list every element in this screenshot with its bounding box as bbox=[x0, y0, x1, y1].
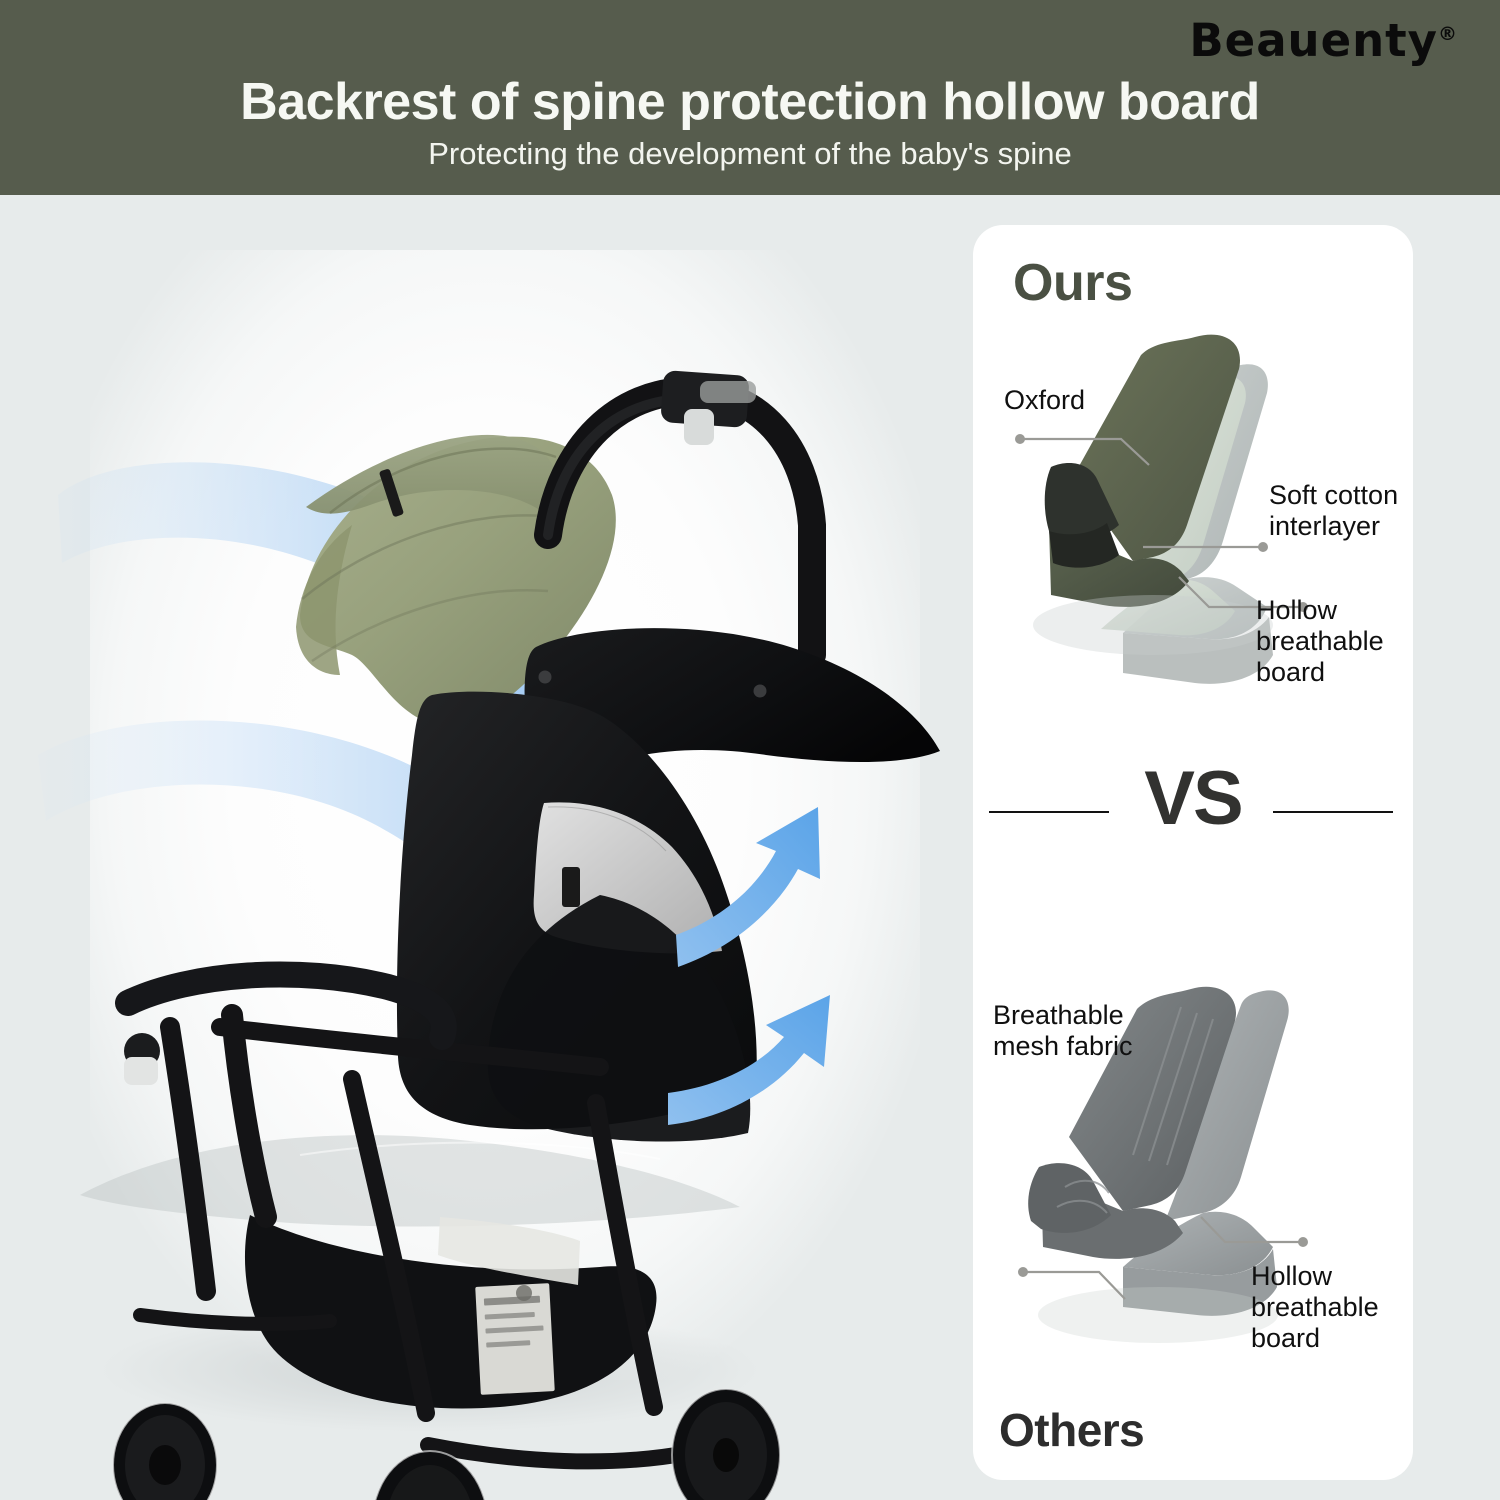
callout-label-soft-cotton-interlayer: Soft cotton interlayer bbox=[1269, 480, 1398, 542]
versus-rule-right bbox=[1273, 811, 1393, 813]
callout-label-breathable-mesh-fabric: Breathable mesh fabric bbox=[993, 1000, 1133, 1062]
page-title: Backrest of spine protection hollow boar… bbox=[0, 72, 1500, 132]
stroller-seat-body bbox=[397, 692, 757, 1142]
stroller-illustration bbox=[0, 195, 960, 1500]
callout-label-oxford: Oxford bbox=[1004, 385, 1085, 416]
infographic-root: Beauenty® Backrest of spine protection h… bbox=[0, 0, 1500, 1500]
brand-name: Beauenty bbox=[1189, 14, 1438, 67]
header-band: Beauenty® Backrest of spine protection h… bbox=[0, 0, 1500, 195]
callout-label-hollow-breathable-board-others: Hollow breathable board bbox=[1251, 1261, 1379, 1354]
versus-label: VS bbox=[973, 755, 1413, 842]
others-heading: Others bbox=[999, 1403, 1144, 1457]
registered-trademark-icon: ® bbox=[1438, 23, 1458, 45]
product-photo-area bbox=[0, 195, 960, 1500]
versus-divider: VS bbox=[973, 755, 1413, 865]
brand-logo: Beauenty® bbox=[1189, 14, 1458, 67]
callout-label-hollow-breathable-board-ours: Hollow breathable board bbox=[1256, 595, 1384, 688]
page-subtitle: Protecting the development of the baby's… bbox=[0, 136, 1500, 172]
comparison-panel: Ours bbox=[973, 225, 1413, 1480]
